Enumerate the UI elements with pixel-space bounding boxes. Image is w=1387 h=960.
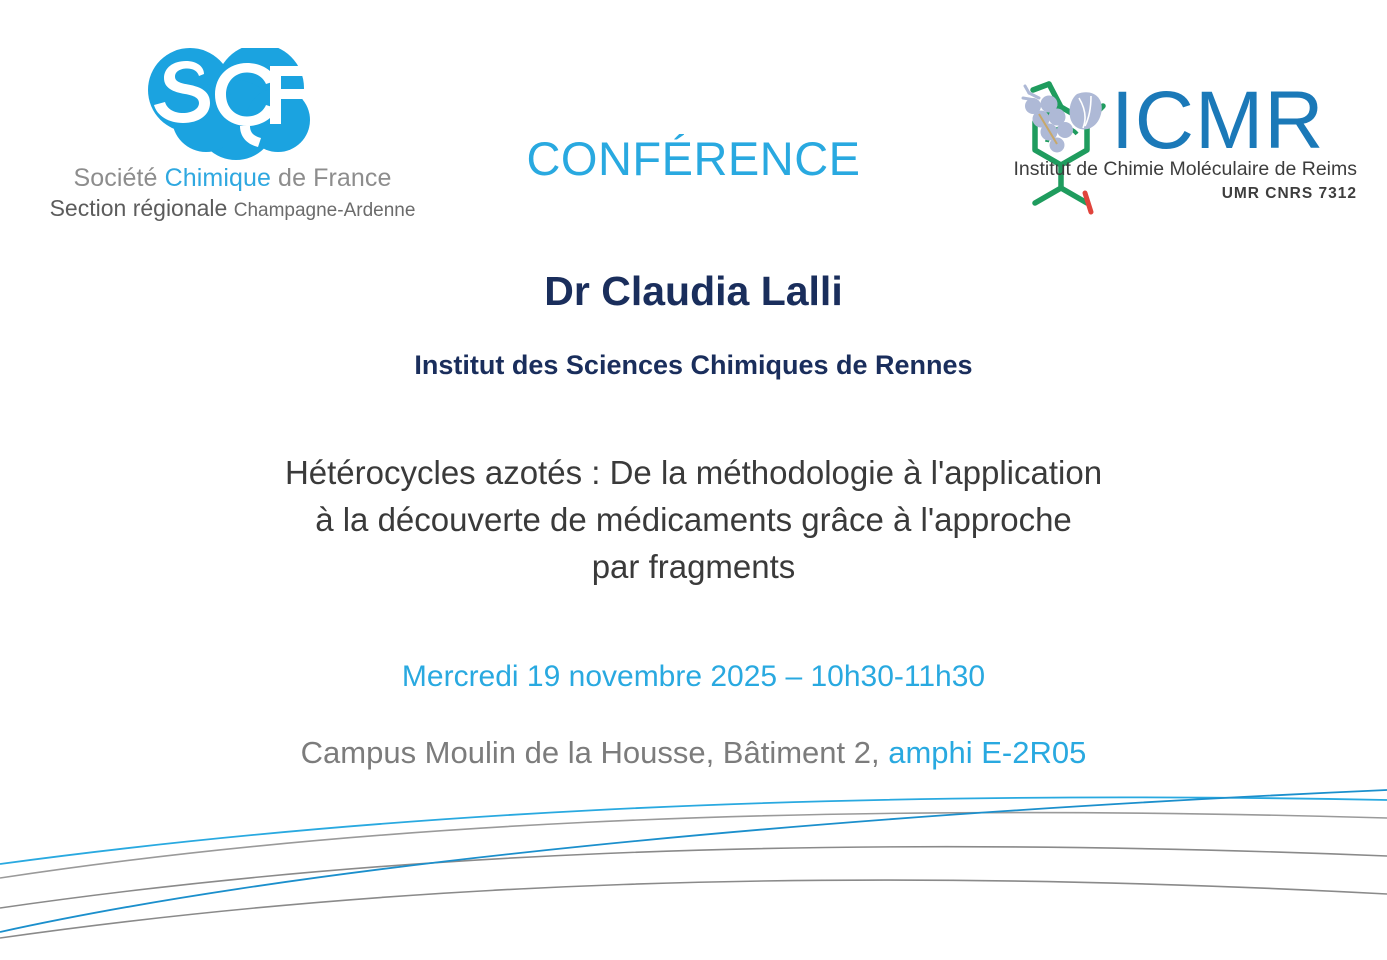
swoosh-line-blue-1 bbox=[0, 797, 1387, 864]
conference-poster: Société Chimique de France Section régio… bbox=[0, 0, 1387, 960]
swoosh-line-gray-2 bbox=[0, 847, 1387, 908]
swoosh-line-blue-2 bbox=[0, 790, 1387, 932]
talk-title-line-2: à la découverte de médicaments grâce à l… bbox=[0, 497, 1387, 544]
decorative-swoosh bbox=[0, 760, 1387, 960]
icmr-red-accent-icon bbox=[1085, 193, 1091, 212]
swoosh-line-gray-1 bbox=[0, 813, 1387, 878]
talk-title: Hétérocycles azotés : De la méthodologie… bbox=[0, 450, 1387, 591]
speaker-name: Dr Claudia Lalli bbox=[0, 268, 1387, 315]
scf-region-main: Section régionale bbox=[50, 195, 234, 221]
swoosh-line-gray-3 bbox=[0, 880, 1387, 938]
scf-region-name: Champagne-Ardenne bbox=[234, 200, 416, 221]
scf-region-line: Section régionale Champagne-Ardenne bbox=[45, 195, 420, 222]
talk-title-line-1: Hétérocycles azotés : De la méthodologie… bbox=[0, 450, 1387, 497]
talk-title-line-3: par fragments bbox=[0, 544, 1387, 591]
icmr-unit-code: UMR CNRS 7312 bbox=[1222, 185, 1357, 202]
page-title: CONFÉRENCE bbox=[0, 131, 1387, 186]
speaker-affiliation: Institut des Sciences Chimiques de Renne… bbox=[0, 350, 1387, 381]
event-datetime: Mercredi 19 novembre 2025 – 10h30-11h30 bbox=[0, 660, 1387, 694]
